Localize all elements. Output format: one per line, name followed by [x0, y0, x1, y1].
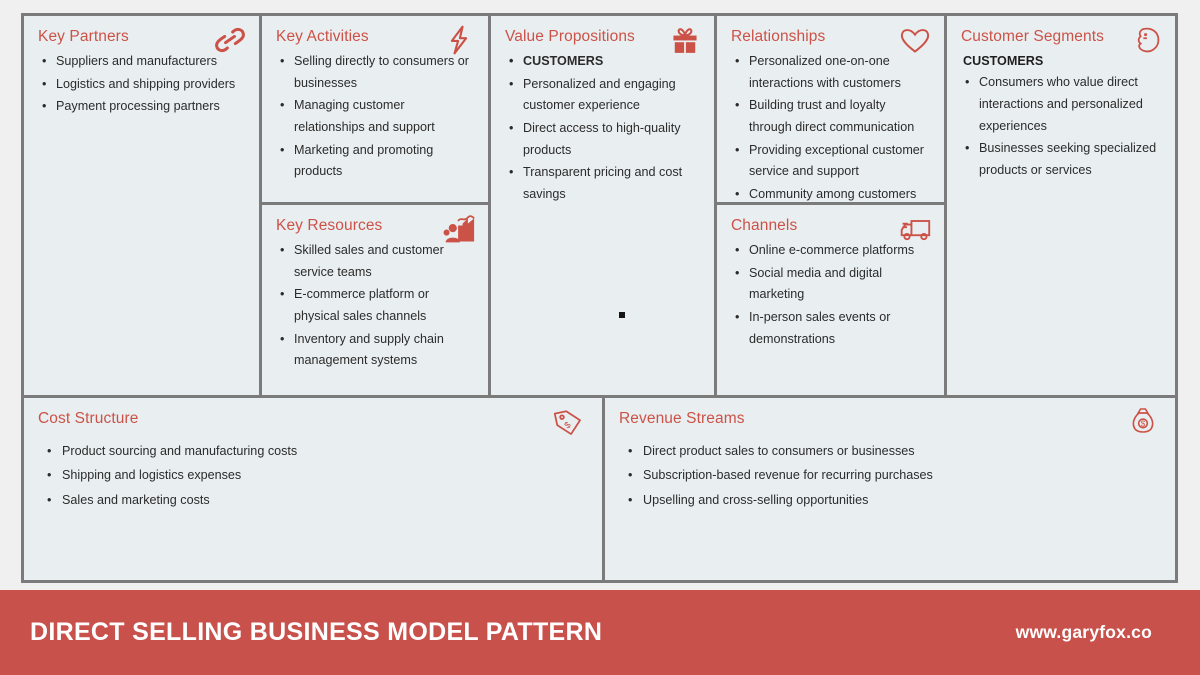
- block-cost-structure[interactable]: Cost Structure $ Product sourcing and ma…: [24, 398, 602, 580]
- list-item: Shipping and logistics expenses: [38, 465, 588, 485]
- block-title-key-partners: Key Partners: [38, 28, 245, 45]
- stray-bullet-marker: [619, 312, 625, 318]
- block-title-key-activities: Key Activities: [276, 28, 474, 45]
- list-item: Transparent pricing and cost savings: [505, 162, 700, 205]
- footer-banner: DIRECT SELLING BUSINESS MODEL PATTERN ww…: [0, 590, 1200, 675]
- block-title-revenue-streams: Revenue Streams: [619, 410, 1161, 427]
- list-item: CUSTOMERS: [505, 51, 700, 73]
- column-relationships-channels: Relationships Personalized one-on-one in…: [714, 16, 944, 395]
- list-item: Selling directly to consumers or busines…: [276, 51, 474, 94]
- column-cost-structure: Cost Structure $ Product sourcing and ma…: [24, 398, 602, 580]
- list-item: Businesses seeking specialized products …: [961, 138, 1161, 181]
- column-key-activities-resources: Key Activities Selling directly to consu…: [259, 16, 488, 395]
- list-item: Providing exceptional customer service a…: [731, 140, 930, 183]
- list-item: Suppliers and manufacturers: [38, 51, 245, 73]
- block-value-propositions[interactable]: Value Propositions: [491, 16, 714, 395]
- list-item: Logistics and shipping providers: [38, 74, 245, 96]
- block-key-resources[interactable]: Key Resources Sk: [262, 205, 488, 395]
- list-item: Upselling and cross-selling opportunitie…: [619, 490, 1161, 510]
- canvas-top-row: Key Partners Suppliers and manufacturers: [24, 16, 1175, 395]
- list-item: Marketing and promoting products: [276, 140, 474, 183]
- list-value-propositions: CUSTOMERS Personalized and engaging cust…: [505, 51, 700, 206]
- column-key-partners: Key Partners Suppliers and manufacturers: [24, 16, 259, 395]
- block-title-channels: Channels: [731, 217, 930, 234]
- list-item: In-person sales events or demonstrations: [731, 307, 930, 350]
- footer-url: www.garyfox.co: [1016, 622, 1152, 643]
- list-item: Inventory and supply chain management sy…: [276, 329, 474, 372]
- column-revenue-streams: Revenue Streams $ Direct product s: [602, 398, 1175, 580]
- block-title-customer-segments: Customer Segments: [961, 28, 1161, 45]
- block-title-key-resources: Key Resources: [276, 217, 474, 234]
- list-item: Subscription-based revenue for recurring…: [619, 465, 1161, 485]
- list-relationships: Personalized one-on-one interactions wit…: [731, 51, 930, 205]
- column-customer-segments: Customer Segments CUSTOMERS Consumers wh: [944, 16, 1175, 395]
- block-revenue-streams[interactable]: Revenue Streams $ Direct product s: [605, 398, 1175, 580]
- list-customer-segments: Consumers who value direct interactions …: [961, 72, 1161, 181]
- list-item: Building trust and loyalty through direc…: [731, 95, 930, 138]
- block-key-partners[interactable]: Key Partners Suppliers and manufacturers: [24, 16, 259, 395]
- list-item: Managing customer relationships and supp…: [276, 95, 474, 138]
- list-item: Consumers who value direct interactions …: [961, 72, 1161, 137]
- list-item: E-commerce platform or physical sales ch…: [276, 284, 474, 327]
- list-item: Personalized one-on-one interactions wit…: [731, 51, 930, 94]
- list-channels: Online e-commerce platforms Social media…: [731, 240, 930, 350]
- list-key-resources: Skilled sales and customer service teams…: [276, 240, 474, 372]
- list-item: Payment processing partners: [38, 96, 245, 118]
- list-item: Online e-commerce platforms: [731, 240, 930, 262]
- block-title-relationships: Relationships: [731, 28, 930, 45]
- block-title-cost-structure: Cost Structure: [38, 410, 588, 427]
- list-item: Community among customers: [731, 184, 930, 205]
- block-relationships[interactable]: Relationships Personalized one-on-one in…: [717, 16, 944, 205]
- list-item: Skilled sales and customer service teams: [276, 240, 474, 283]
- column-value-propositions: Value Propositions: [488, 16, 714, 395]
- footer-title: DIRECT SELLING BUSINESS MODEL PATTERN: [30, 618, 602, 647]
- business-model-canvas-grid: Key Partners Suppliers and manufacturers: [21, 13, 1178, 583]
- block-channels[interactable]: Channels Onlin: [717, 205, 944, 395]
- list-key-activities: Selling directly to consumers or busines…: [276, 51, 474, 183]
- list-item: Product sourcing and manufacturing costs: [38, 441, 588, 461]
- block-key-activities[interactable]: Key Activities Selling directly to consu…: [262, 16, 488, 205]
- list-item: Direct product sales to consumers or bus…: [619, 441, 1161, 461]
- list-revenue-streams: Direct product sales to consumers or bus…: [619, 441, 1161, 510]
- list-item: Sales and marketing costs: [38, 490, 588, 510]
- list-key-partners: Suppliers and manufacturers Logistics an…: [38, 51, 245, 118]
- list-item: Direct access to high-quality products: [505, 118, 700, 161]
- list-item: Personalized and engaging customer exper…: [505, 74, 700, 117]
- list-item: Social media and digital marketing: [731, 263, 930, 306]
- list-cost-structure: Product sourcing and manufacturing costs…: [38, 441, 588, 510]
- business-model-canvas-page: Key Partners Suppliers and manufacturers: [0, 0, 1200, 675]
- canvas-bottom-row: Cost Structure $ Product sourcing and ma…: [24, 395, 1175, 580]
- block-customer-segments[interactable]: Customer Segments CUSTOMERS Consumers wh: [947, 16, 1175, 395]
- subheading-customers: CUSTOMERS: [963, 51, 1161, 71]
- block-title-value-propositions: Value Propositions: [505, 28, 700, 45]
